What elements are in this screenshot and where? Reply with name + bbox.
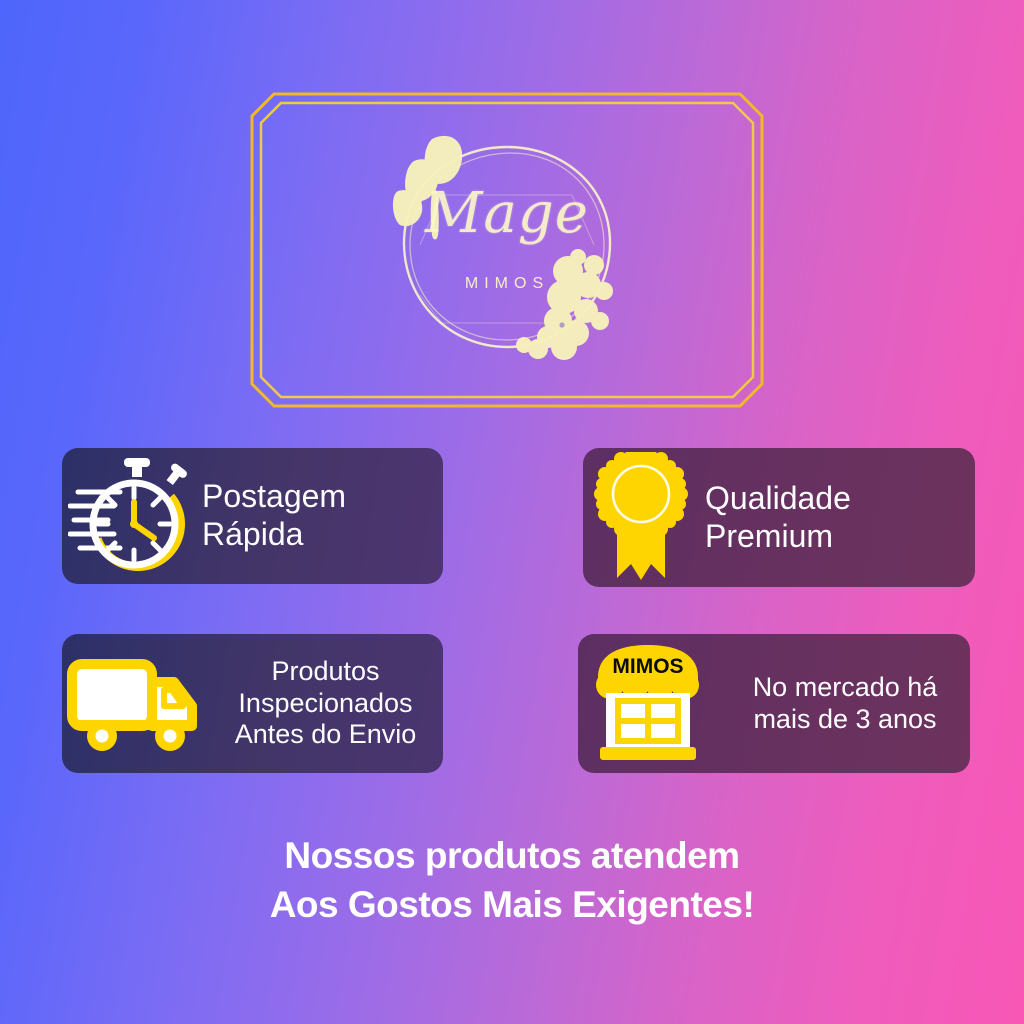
storefront-sign-text: MIMOS xyxy=(612,655,683,678)
feature-card-qualidade-premium[interactable]: Qualidade Premium xyxy=(583,448,975,587)
stopwatch-icon-wrap xyxy=(68,454,196,578)
bottom-headline: Nossos produtos atendem Aos Gostos Mais … xyxy=(0,832,1024,930)
feature-card-label: Produtos Inspecionados Antes do Envio xyxy=(208,656,443,752)
storefront-icon: MIMOS xyxy=(588,641,708,767)
delivery-truck-icon-wrap xyxy=(66,648,206,760)
delivery-truck-icon xyxy=(66,648,206,760)
feature-card-label: No mercado há mais de 3 anos xyxy=(720,672,970,736)
award-ribbon-icon-wrap xyxy=(591,452,691,584)
feature-card-postagem-rapida[interactable]: Postagem Rápida xyxy=(62,448,443,584)
feature-card-produtos-inspecionados[interactable]: Produtos Inspecionados Antes do Envio xyxy=(62,634,443,773)
feature-card-no-mercado[interactable]: MIMOS No mercado há mais de 3 anos xyxy=(578,634,970,773)
feature-card-label: Qualidade Premium xyxy=(705,480,975,556)
stopwatch-icon xyxy=(68,454,196,578)
award-ribbon-icon xyxy=(591,452,691,584)
storefront-icon-wrap: MIMOS xyxy=(588,641,708,767)
feature-card-label: Postagem Rápida xyxy=(202,478,443,554)
